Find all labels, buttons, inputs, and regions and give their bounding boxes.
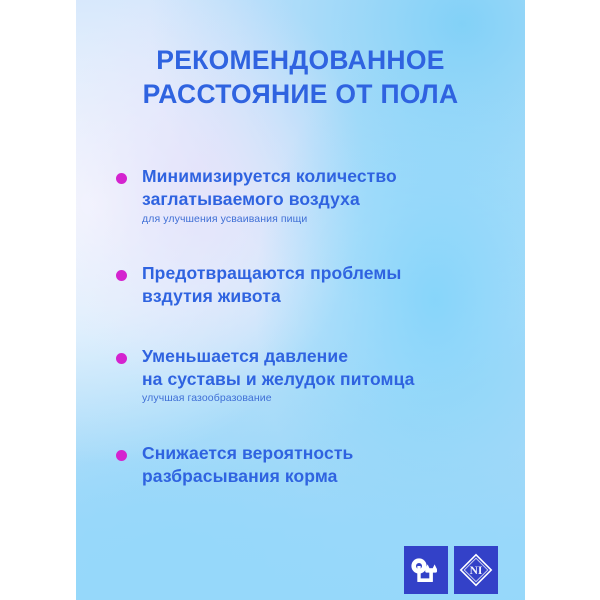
list-item-subtext: улучшая газообразование <box>142 392 524 406</box>
bullet-dot-icon <box>116 450 127 461</box>
list-item-text: Снижается вероятность разбрасывания корм… <box>142 442 524 489</box>
list-item-text: Минимизируется количество заглатываемого… <box>142 165 524 212</box>
bullet-dot-icon <box>116 270 127 281</box>
page-title: РЕКОМЕНДОВАННОЕ РАССТОЯНИЕ ОТ ПОЛА <box>76 44 525 112</box>
ni-diamond-logo: NI <box>454 546 498 594</box>
list-item-line-1: Снижается вероятность <box>142 442 524 465</box>
list-item-text: Предотвращаются проблемы вздутия живота <box>142 262 524 309</box>
list-item-line-1: Минимизируется количество <box>142 165 524 188</box>
page-title-line-1: РЕКОМЕНДОВАННОЕ <box>76 44 525 78</box>
page-title-line-2: РАССТОЯНИЕ ОТ ПОЛА <box>76 78 525 112</box>
benefit-list: Минимизируется количество заглатываемого… <box>114 165 524 488</box>
list-item: Снижается вероятность разбрасывания корм… <box>114 442 524 489</box>
list-item-line-1: Уменьшается давление <box>142 345 524 368</box>
bullet-dot-icon <box>116 173 127 184</box>
list-item-text: Уменьшается давление на суставы и желудо… <box>142 345 524 392</box>
list-item-line-2: вздутия живота <box>142 285 524 308</box>
list-item-subtext: для улучшения усваивания пищи <box>142 213 524 227</box>
list-item: Предотвращаются проблемы вздутия живота <box>114 262 524 309</box>
ni-diamond-logo-text: NI <box>470 565 483 577</box>
pet-bowl-dog-logo <box>404 546 448 594</box>
bullet-dot-icon <box>116 353 127 364</box>
logo-strip: NI <box>404 546 498 594</box>
slide-panel: РЕКОМЕНДОВАННОЕ РАССТОЯНИЕ ОТ ПОЛА Миним… <box>76 0 525 600</box>
list-item-line-2: заглатываемого воздуха <box>142 188 524 211</box>
list-item-line-2: на суставы и желудок питомца <box>142 368 524 391</box>
list-item: Уменьшается давление на суставы и желудо… <box>114 345 524 406</box>
list-item-line-1: Предотвращаются проблемы <box>142 262 524 285</box>
list-item-line-2: разбрасывания корма <box>142 465 524 488</box>
poster-root: РЕКОМЕНДОВАННОЕ РАССТОЯНИЕ ОТ ПОЛА Миним… <box>0 0 600 600</box>
list-item: Минимизируется количество заглатываемого… <box>114 165 524 226</box>
